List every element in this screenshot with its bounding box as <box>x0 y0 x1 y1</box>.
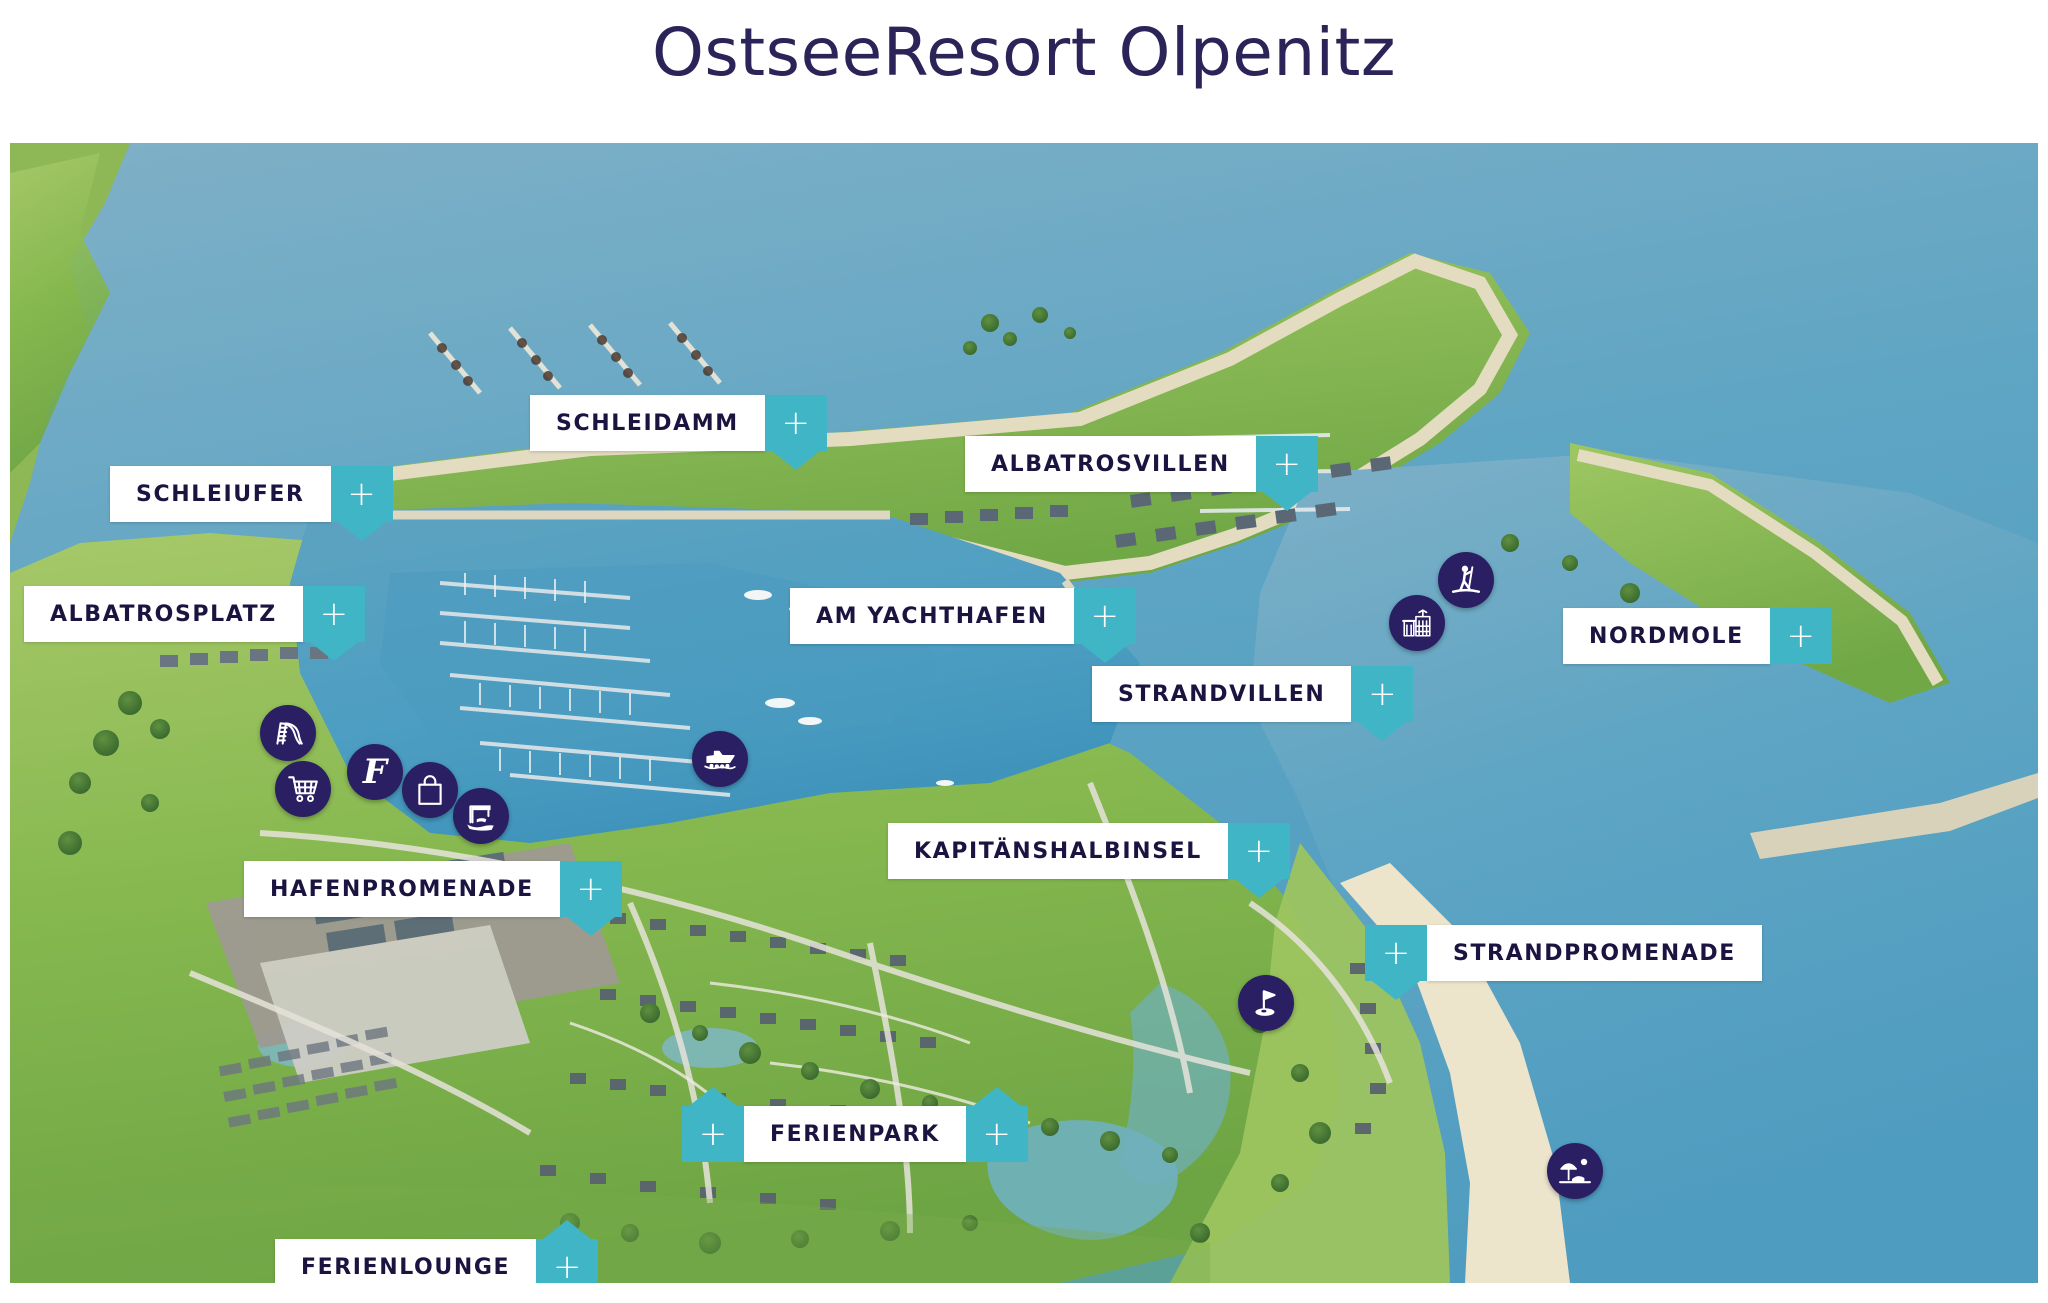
hotspot-label: HAFENPROMENADE <box>244 861 560 917</box>
expand-plus-button[interactable]: + <box>1256 436 1318 492</box>
expand-plus-button[interactable]: + <box>331 466 393 522</box>
hotspot-label: NORDMOLE <box>1563 608 1770 664</box>
motorboat-icon[interactable] <box>692 731 748 787</box>
hotspot-label: SCHLEIDAMM <box>530 395 765 451</box>
hotspot-albatrosplatz[interactable]: ALBATROSPLATZ + <box>24 586 365 642</box>
shopping-cart-icon[interactable] <box>275 761 331 817</box>
plus-icon: + <box>1272 447 1301 481</box>
plus-icon: + <box>699 1117 728 1151</box>
plus-icon: + <box>1787 619 1816 653</box>
expand-plus-button-right[interactable]: + <box>966 1106 1028 1162</box>
hotspot-label: KAPITÄNSHALBINSEL <box>888 823 1228 879</box>
hotspot-label: ALBATROSPLATZ <box>24 586 303 642</box>
golf-flag-icon[interactable] <box>1238 975 1294 1031</box>
shopping-bag-icon[interactable] <box>402 762 458 818</box>
hotspot-albatrosvillen[interactable]: ALBATROSVILLEN + <box>965 436 1318 492</box>
expand-plus-button[interactable]: + <box>1228 823 1290 879</box>
plus-icon: + <box>347 477 376 511</box>
resort-map[interactable]: SCHLEIDAMM + SCHLEIUFER + ALBATROSVILLEN… <box>10 143 2038 1283</box>
hotspot-label: STRANDVILLEN <box>1092 666 1351 722</box>
expand-plus-button-left[interactable]: + <box>682 1106 744 1162</box>
hotspot-label: FERIENPARK <box>744 1106 966 1162</box>
expand-plus-button[interactable]: + <box>1770 608 1832 664</box>
plus-icon: + <box>576 872 605 906</box>
resort-map-page: OstseeResort Olpenitz <box>0 0 2048 1303</box>
hotspot-ferienpark[interactable]: + FERIENPARK + <box>682 1106 1028 1162</box>
hotspot-nordmole[interactable]: NORDMOLE + <box>1563 608 1832 664</box>
plus-icon: + <box>320 597 349 631</box>
f-logo-glyph: F <box>363 755 387 789</box>
buildings-icon[interactable] <box>1389 595 1445 651</box>
plus-icon: + <box>1368 677 1397 711</box>
beach-umbrella-icon[interactable] <box>1547 1143 1603 1199</box>
paddleboarding-icon[interactable] <box>1438 552 1494 608</box>
boat-crane-icon[interactable] <box>453 788 509 844</box>
expand-plus-button[interactable]: + <box>1365 925 1427 981</box>
expand-plus-button[interactable]: + <box>765 395 827 451</box>
expand-plus-button[interactable]: + <box>560 861 622 917</box>
hotspot-ferienlounge[interactable]: FERIENLOUNGE + <box>275 1239 598 1283</box>
expand-plus-button[interactable]: + <box>1351 666 1413 722</box>
hotspot-label: AM YACHTHAFEN <box>790 588 1074 644</box>
plus-icon: + <box>1090 599 1119 633</box>
plus-icon: + <box>781 406 810 440</box>
plus-icon: + <box>983 1117 1012 1151</box>
hotspot-hafenpromenade[interactable]: HAFENPROMENADE + <box>244 861 622 917</box>
expand-plus-button[interactable]: + <box>303 586 365 642</box>
hotspot-strandpromenade[interactable]: STRANDPROMENADE + <box>1365 925 1762 981</box>
hotspot-strandvillen[interactable]: STRANDVILLEN + <box>1092 666 1413 722</box>
water-slide-icon[interactable] <box>260 705 316 761</box>
hotspot-label: STRANDPROMENADE <box>1427 925 1762 981</box>
f-logo-icon[interactable]: F <box>347 744 403 800</box>
hotspot-schleiufer[interactable]: SCHLEIUFER + <box>110 466 393 522</box>
hotspot-kapitaenshalbinsel[interactable]: KAPITÄNSHALBINSEL + <box>888 823 1290 879</box>
plus-icon: + <box>1382 936 1411 970</box>
hotspot-label: FERIENLOUNGE <box>275 1239 536 1283</box>
hotspot-label: ALBATROSVILLEN <box>965 436 1256 492</box>
plus-icon: + <box>553 1250 582 1283</box>
hotspot-label: SCHLEIUFER <box>110 466 331 522</box>
hotspot-am-yachthafen[interactable]: AM YACHTHAFEN + <box>790 588 1136 644</box>
expand-plus-button[interactable]: + <box>536 1239 598 1283</box>
plus-icon: + <box>1245 834 1274 868</box>
expand-plus-button[interactable]: + <box>1074 588 1136 644</box>
page-title: OstseeResort Olpenitz <box>0 14 2048 91</box>
hotspot-schleidamm[interactable]: SCHLEIDAMM + <box>530 395 827 451</box>
